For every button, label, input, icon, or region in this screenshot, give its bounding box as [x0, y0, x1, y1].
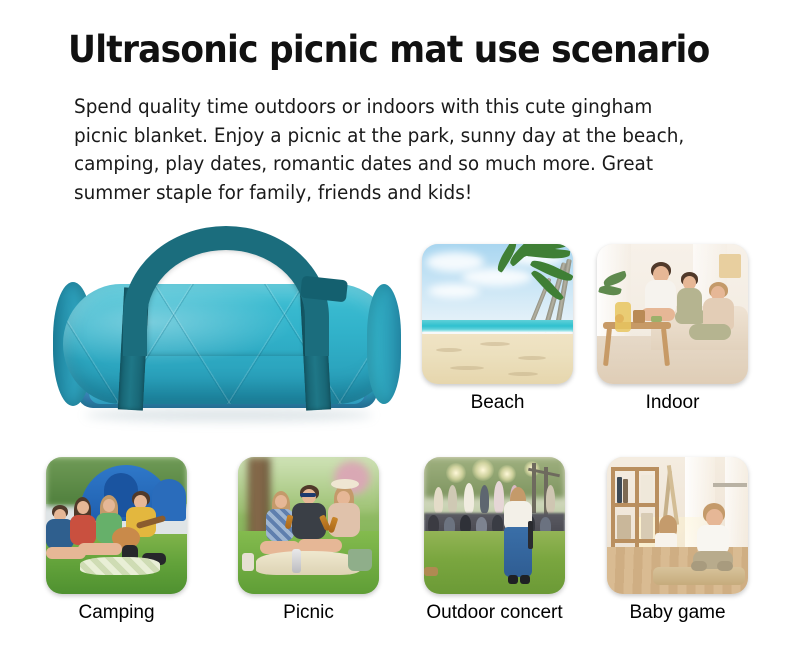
scenario-card-camping: Camping — [46, 457, 187, 624]
camping-photo — [46, 457, 187, 594]
scenario-caption-beach: Beach — [422, 391, 573, 414]
baby-game-photo — [607, 457, 748, 594]
scenario-card-picnic: Picnic — [238, 457, 379, 624]
scenario-caption-outdoor-concert: Outdoor concert — [424, 601, 565, 624]
scenario-caption-camping: Camping — [46, 601, 187, 624]
scenario-card-indoor: Indoor — [597, 244, 748, 414]
mat-roll-end-right — [367, 284, 401, 404]
outdoor-concert-photo — [424, 457, 565, 594]
hero-product-image — [55, 232, 405, 432]
beach-photo — [422, 244, 573, 384]
hero-stage — [55, 232, 405, 432]
scenario-caption-baby-game: Baby game — [607, 601, 748, 624]
page-title: Ultrasonic picnic mat use scenario — [68, 28, 700, 72]
scenario-caption-picnic: Picnic — [238, 601, 379, 624]
hero-drop-shadow — [85, 408, 373, 422]
scenario-card-baby-game: Baby game — [607, 457, 748, 624]
scenario-caption-indoor: Indoor — [597, 391, 748, 414]
indoor-photo — [597, 244, 748, 384]
page-description: Spend quality time outdoors or indoors w… — [74, 93, 707, 207]
picnic-photo — [238, 457, 379, 594]
scenario-card-beach: Beach — [422, 244, 573, 414]
carry-handle-arc — [123, 226, 329, 356]
strap-tab — [300, 276, 348, 303]
scenario-card-outdoor-concert: Outdoor concert — [424, 457, 565, 624]
